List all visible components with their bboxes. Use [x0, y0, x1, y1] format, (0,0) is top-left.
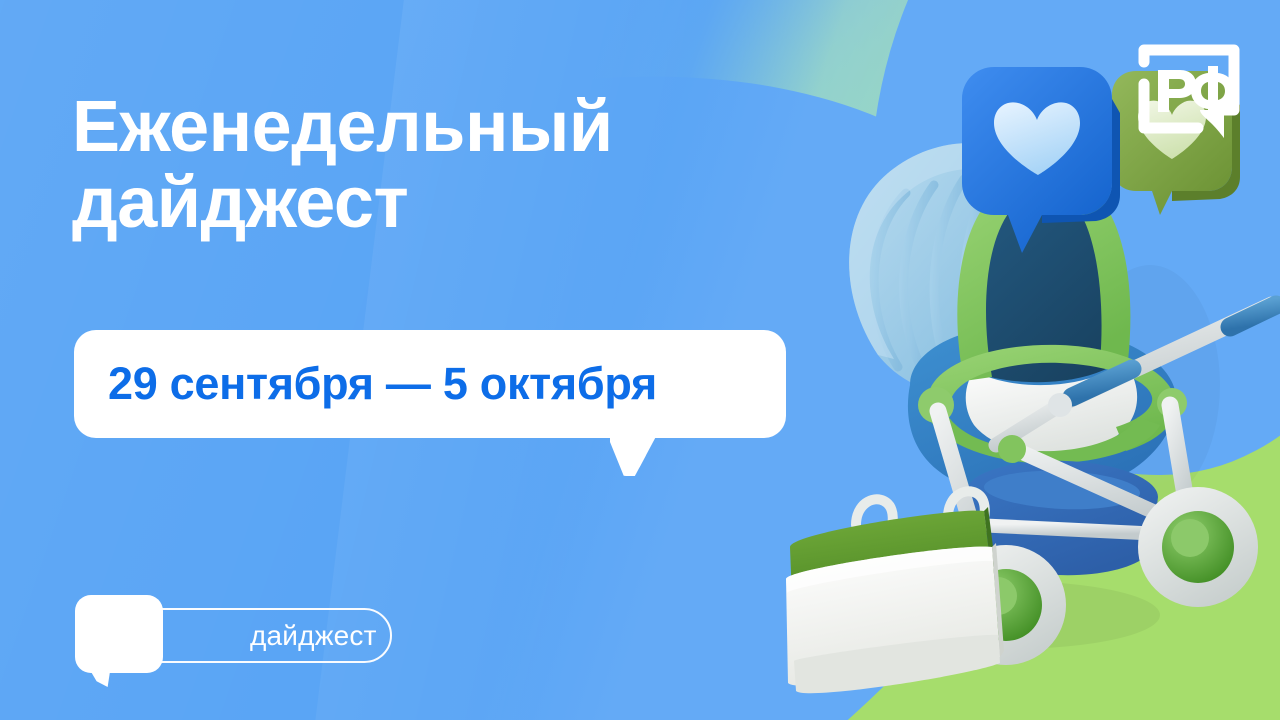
page-title-line1: Еженедельный	[72, 87, 613, 167]
date-range-text: 29 сентября — 5 октября	[108, 358, 657, 410]
date-range-card: 29 сентября — 5 октября	[74, 330, 786, 438]
digest-badge-label: дайджест	[250, 620, 377, 652]
calendar-3d	[786, 491, 1004, 693]
page-title: Еженедельный дайджест	[72, 90, 852, 241]
weekly-digest-banner: Еженедельный дайджест 29 сентября — 5 ок…	[0, 0, 1280, 720]
digest-badge[interactable]: дайджест	[75, 595, 405, 683]
speech-bubble-icon	[75, 595, 163, 673]
digest-badge-pill[interactable]: дайджест	[130, 608, 392, 663]
rf-speech-bubble-logo	[1134, 40, 1244, 144]
stroller-wheel-rear	[1138, 487, 1258, 607]
page-title-line2: дайджест	[72, 166, 852, 242]
